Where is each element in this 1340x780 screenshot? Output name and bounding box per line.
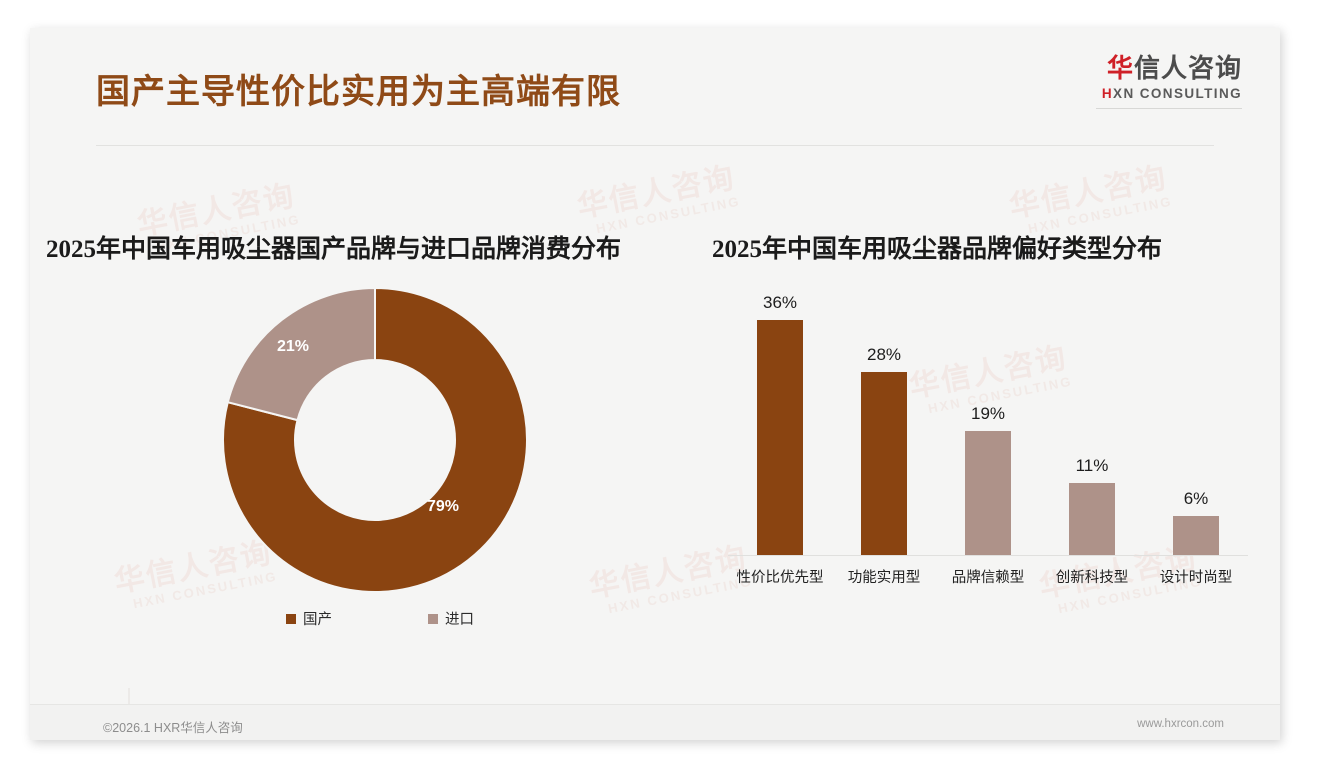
company-logo: 华信人咨询 HXN CONSULTING [1096, 54, 1242, 109]
bar-category-label: 品牌信赖型 [952, 566, 1025, 587]
legend-swatch-icon [286, 614, 296, 624]
bar-value-label: 6% [1184, 489, 1209, 509]
bar-value-label: 28% [867, 345, 901, 365]
logo-chinese: 华信人咨询 [1096, 54, 1242, 83]
donut-chart-title: 2025年中国车用吸尘器国产品牌与进口品牌消费分布 [46, 229, 621, 265]
donut-slice-value-0: 79% [427, 498, 459, 516]
bar-rect[interactable] [965, 431, 1011, 555]
bar-column: 19%品牌信赖型 [936, 283, 1040, 555]
donut-legend: 国产 进口 [215, 608, 545, 629]
bar-category-label: 功能实用型 [848, 566, 921, 587]
donut-svg [215, 280, 535, 600]
legend-item-label: 进口 [445, 608, 474, 629]
logo-english: HXN CONSULTING [1096, 87, 1242, 102]
website-link[interactable]: www.hxrcon.com [1137, 718, 1224, 730]
slide-header: 国产主导性价比实用为主高端有限 华信人咨询 HXN CONSULTING [30, 28, 1280, 120]
bar-rect[interactable] [1173, 516, 1219, 555]
header-divider [96, 145, 1214, 146]
bar-axis-baseline [728, 555, 1248, 556]
logo-underline [1096, 108, 1242, 109]
legend-item-label: 国产 [303, 608, 332, 629]
bar-value-label: 11% [1076, 456, 1109, 476]
bar-rect[interactable] [861, 372, 907, 555]
footer-divider [30, 704, 1280, 705]
logo-cn-red: 华 [1107, 53, 1134, 83]
legend-item-0[interactable]: 国产 [286, 608, 332, 629]
bar-plot-area: 36%性价比优先型28%功能实用型19%品牌信赖型11%创新科技型6%设计时尚型 [698, 283, 1232, 555]
copyright-text: ©2026.1 HXR华信人咨询 [103, 717, 243, 736]
bar-category-label: 创新科技型 [1056, 566, 1129, 587]
slide-footer: ©2026.1 HXR华信人咨询 www.hxrcon.com [30, 705, 1280, 740]
logo-en-dark: XN CONSULTING [1113, 86, 1242, 101]
bar-value-label: 36% [763, 293, 797, 313]
bar-chart: 36%性价比优先型28%功能实用型19%品牌信赖型11%创新科技型6%设计时尚型 [698, 283, 1258, 583]
bar-category-label: 性价比优先型 [737, 566, 824, 587]
legend-item-1[interactable]: 进口 [428, 608, 474, 629]
donut-chart: 79% 21% [215, 280, 535, 600]
legend-swatch-icon [428, 614, 438, 624]
charts-region: 2025年中国车用吸尘器国产品牌与进口品牌消费分布 2025年中国车用吸尘器品牌… [30, 153, 1280, 653]
bar-column: 28%功能实用型 [832, 283, 936, 555]
bar-column: 11%创新科技型 [1040, 283, 1144, 555]
bar-column: 6%设计时尚型 [1144, 283, 1248, 555]
logo-cn-dark: 信人咨询 [1134, 53, 1242, 83]
bar-category-label: 设计时尚型 [1160, 566, 1233, 587]
bar-chart-title: 2025年中国车用吸尘器品牌偏好类型分布 [712, 229, 1162, 265]
slide-canvas: 华信人咨询 HXN CONSULTING 华信人咨询 HXN CONSULTIN… [30, 28, 1280, 740]
bar-column: 36%性价比优先型 [728, 283, 832, 555]
page-title: 国产主导性价比实用为主高端有限 [96, 64, 621, 113]
donut-slice-value-1: 21% [277, 338, 309, 356]
bar-rect[interactable] [1069, 483, 1115, 555]
logo-en-red: H [1102, 86, 1113, 101]
bar-value-label: 19% [971, 404, 1005, 424]
bar-rect[interactable] [757, 320, 803, 555]
